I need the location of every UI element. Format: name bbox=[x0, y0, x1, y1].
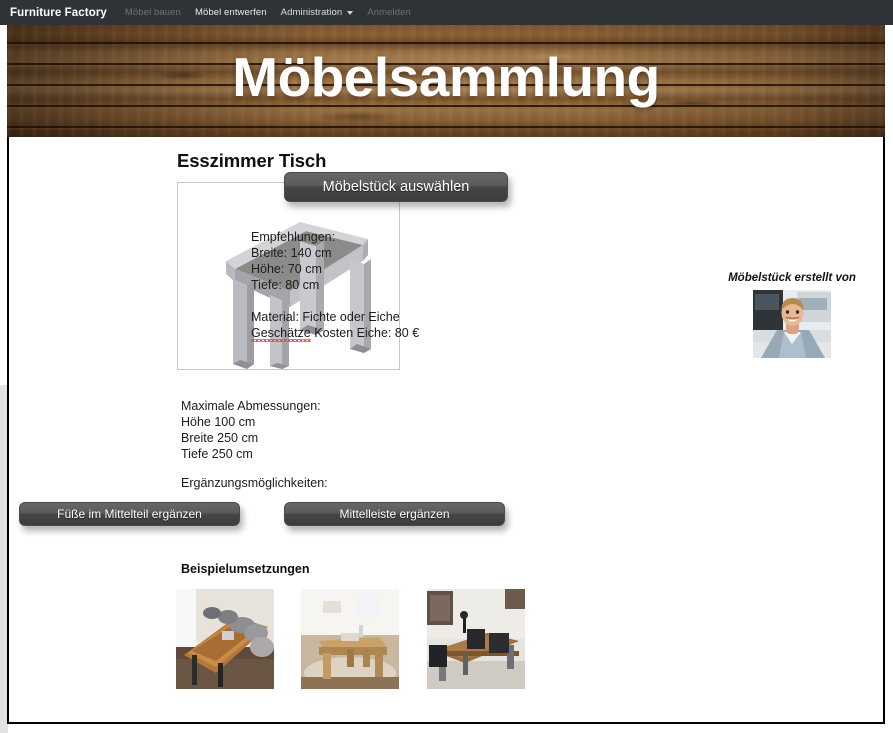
example-image-1[interactable] bbox=[176, 589, 274, 689]
nav-item-administration[interactable]: Administration bbox=[281, 7, 354, 18]
avatar bbox=[753, 290, 831, 358]
max-depth: Tiefe 250 cm bbox=[181, 446, 321, 462]
recommendations-block: Empfehlungen: Breite: 140 cm Höhe: 70 cm… bbox=[251, 229, 419, 341]
creator-block: Möbelstück erstellt von bbox=[717, 272, 867, 358]
furniture-name-heading: Esszimmer Tisch bbox=[177, 150, 326, 172]
dark-wood-dining-table-icon bbox=[427, 589, 525, 689]
max-width: Breite 250 cm bbox=[181, 430, 321, 446]
material-line: Material: Fichte oder Eiche bbox=[251, 309, 419, 325]
page-banner: Möbelsammlung bbox=[7, 25, 885, 137]
nav-item-moebel-entwerfen[interactable]: Möbel entwerfen bbox=[195, 7, 267, 18]
nav-item-administration-label: Administration bbox=[281, 7, 343, 18]
examples-heading: Beispielumsetzungen bbox=[181, 562, 310, 576]
max-dimensions-heading: Maximale Abmessungen: bbox=[181, 398, 321, 414]
page-title: Möbelsammlung bbox=[7, 25, 885, 137]
spellcheck-underlined-word: Geschätze bbox=[251, 326, 311, 342]
nav-item-moebel-bauen[interactable]: Möbel bauen bbox=[125, 7, 181, 18]
page-canvas: Furniture Factory Möbel bauen Möbel entw… bbox=[0, 0, 893, 733]
nav-brand[interactable]: Furniture Factory bbox=[10, 7, 107, 19]
select-furniture-button[interactable]: Möbelstück auswählen bbox=[284, 172, 508, 202]
creator-label: Möbelstück erstellt von bbox=[717, 272, 867, 284]
dining-table-live-edge-icon bbox=[176, 589, 274, 689]
recommendation-height: Höhe: 70 cm bbox=[251, 261, 419, 277]
portrait-photo-icon bbox=[753, 290, 831, 358]
nav-item-anmelden[interactable]: Anmelden bbox=[367, 7, 411, 18]
estimated-cost-line: Geschätze Kosten Eiche: 80 € bbox=[251, 325, 419, 341]
estimated-cost-rest: Kosten Eiche: 80 € bbox=[311, 326, 419, 340]
recommendation-width: Breite: 140 cm bbox=[251, 245, 419, 261]
example-image-2[interactable] bbox=[301, 589, 399, 689]
spacer bbox=[251, 293, 419, 309]
example-image-3[interactable] bbox=[427, 589, 525, 689]
max-height: Höhe 100 cm bbox=[181, 414, 321, 430]
light-oak-dining-table-icon bbox=[301, 589, 399, 689]
add-middle-feet-button[interactable]: Füße im Mittelteil ergänzen bbox=[19, 502, 240, 526]
right-gutter bbox=[885, 112, 893, 733]
main-content: Esszimmer Tisch bbox=[9, 137, 883, 722]
chevron-down-icon bbox=[347, 11, 353, 15]
recommendations-heading: Empfehlungen: bbox=[251, 229, 419, 245]
recommendation-depth: Tiefe: 80 cm bbox=[251, 277, 419, 293]
page-border-bottom bbox=[7, 722, 885, 724]
max-dimensions-block: Maximale Abmessungen: Höhe 100 cm Breite… bbox=[181, 398, 321, 462]
page-border-right bbox=[883, 112, 885, 724]
add-center-bar-button[interactable]: Mittelleiste ergänzen bbox=[284, 502, 505, 526]
top-navigation-bar: Furniture Factory Möbel bauen Möbel entw… bbox=[0, 0, 893, 25]
supplement-options-label: Ergänzungsmöglichkeiten: bbox=[181, 476, 328, 490]
